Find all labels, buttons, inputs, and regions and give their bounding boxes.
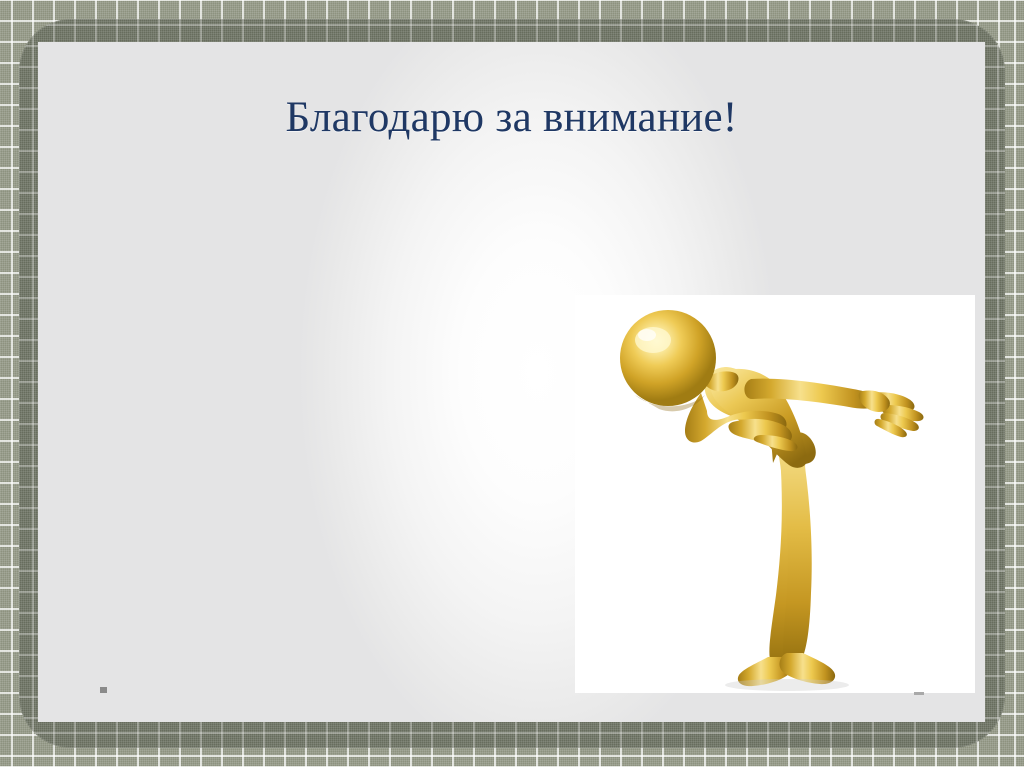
slide-content-area: Благодарю за внимание! — [38, 42, 985, 722]
golden-figure-icon — [575, 295, 975, 693]
presentation-slide: Благодарю за внимание! — [0, 0, 1024, 767]
page-title: Благодарю за внимание! — [38, 94, 985, 141]
bullet-marker-left — [100, 687, 107, 693]
bullet-marker-right — [914, 692, 924, 695]
picture-golden-bowing-figure[interactable] — [575, 295, 975, 693]
